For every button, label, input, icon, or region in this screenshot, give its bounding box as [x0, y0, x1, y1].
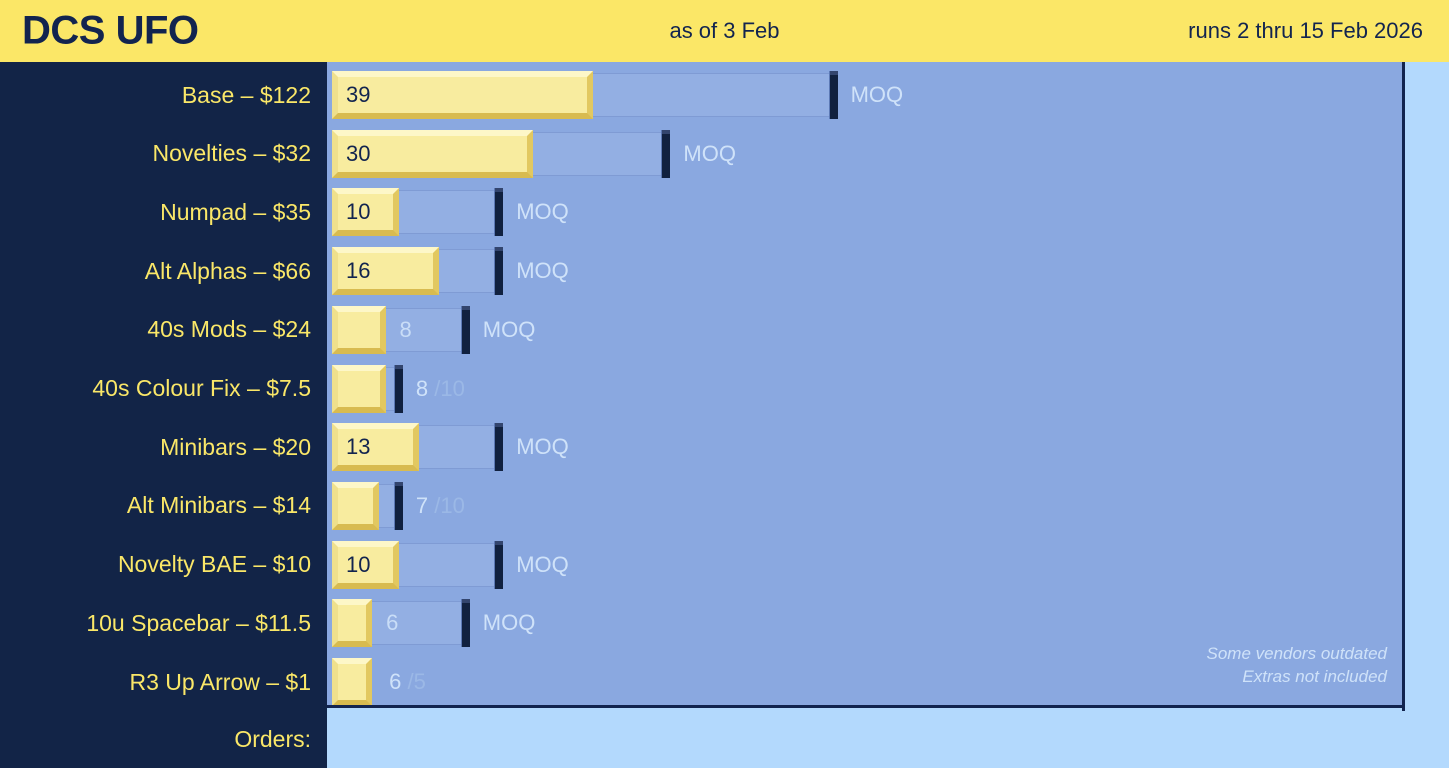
moq-fraction-label: 7 /10 — [416, 493, 465, 519]
orders-bar[interactable] — [332, 658, 372, 706]
moq-fraction-numerator: 7 — [416, 493, 434, 518]
orders-value: 10 — [346, 199, 370, 225]
bar-row: 8MOQ — [327, 301, 1405, 359]
bar-row: 30MOQ — [327, 125, 1405, 183]
category-label-alt-minibars: Alt Minibars – $14 — [0, 477, 311, 535]
page-header: DCS UFO as of 3 Feb runs 2 thru 15 Feb 2… — [0, 0, 1449, 62]
orders-bar[interactable] — [332, 365, 386, 413]
plot-right-padding — [1405, 62, 1449, 708]
orders-axis-label: Orders: — [0, 726, 311, 753]
chart-page: DCS UFO as of 3 Feb runs 2 thru 15 Feb 2… — [0, 0, 1449, 768]
orders-value: 16 — [346, 258, 370, 284]
moq-marker — [462, 599, 470, 647]
moq-marker — [495, 423, 503, 471]
moq-fraction-label: 8 /10 — [416, 376, 465, 402]
bar-row: 10MOQ — [327, 183, 1405, 241]
category-label-text: Minibars – $20 — [160, 434, 311, 461]
category-label-text: Base – $122 — [182, 82, 311, 109]
bar-row: 16MOQ — [327, 242, 1405, 300]
category-label-text: 10u Spacebar – $11.5 — [86, 610, 311, 637]
moq-marker — [495, 541, 503, 589]
category-label-text: Numpad – $35 — [160, 199, 311, 226]
orders-bar[interactable] — [332, 482, 379, 530]
moq-label: MOQ — [516, 258, 569, 284]
bar-row: 6 /5 — [327, 653, 1405, 708]
moq-label: MOQ — [483, 610, 536, 636]
category-label-novelties: Novelties – $32 — [0, 125, 311, 183]
run-dates: runs 2 thru 15 Feb 2026 — [1188, 18, 1423, 44]
category-label-text: Novelty BAE – $10 — [118, 551, 311, 578]
moq-fraction-denominator: /5 — [407, 669, 425, 694]
moq-marker — [662, 130, 670, 178]
orders-bar[interactable]: 39 — [332, 71, 593, 119]
moq-label: MOQ — [516, 434, 569, 460]
orders-bar[interactable] — [332, 599, 372, 647]
category-label-text: 40s Colour Fix – $7.5 — [92, 375, 311, 402]
moq-marker — [830, 71, 838, 119]
moq-marker — [462, 306, 470, 354]
orders-bar[interactable]: 10 — [332, 541, 399, 589]
orders-bar[interactable] — [332, 306, 386, 354]
category-label-text: 40s Mods – $24 — [147, 316, 311, 343]
moq-label: MOQ — [516, 552, 569, 578]
category-label-base: Base – $122 — [0, 66, 311, 124]
moq-marker — [495, 188, 503, 236]
bar-row: 7 /10 — [327, 477, 1405, 535]
orders-bar[interactable]: 16 — [332, 247, 439, 295]
bar-row: 39MOQ — [327, 66, 1405, 124]
moq-marker — [395, 482, 403, 530]
category-label-text: Alt Minibars – $14 — [127, 492, 311, 519]
orders-value: 10 — [346, 552, 370, 578]
category-label-text: Novelties – $32 — [152, 140, 311, 167]
x-axis — [327, 711, 1449, 768]
category-label-10u-spacebar: 10u Spacebar – $11.5 — [0, 594, 311, 652]
orders-bar[interactable]: 13 — [332, 423, 419, 471]
bar-row: 13MOQ — [327, 418, 1405, 476]
moq-label: MOQ — [483, 317, 536, 343]
category-label-40s-colour-fix: 40s Colour Fix – $7.5 — [0, 360, 311, 418]
moq-fraction-denominator: /10 — [434, 376, 465, 401]
moq-fraction-numerator: 6 — [389, 669, 407, 694]
orders-bar[interactable]: 30 — [332, 130, 533, 178]
category-label-r3-up-arrow: R3 Up Arrow – $1 — [0, 653, 311, 711]
category-label-40s-mods: 40s Mods – $24 — [0, 301, 311, 359]
category-label-text: R3 Up Arrow – $1 — [129, 669, 311, 696]
orders-value: 13 — [346, 434, 370, 460]
category-label-novelty-bae: Novelty BAE – $10 — [0, 536, 311, 594]
category-label-alt-alphas: Alt Alphas – $66 — [0, 242, 311, 300]
bar-row: 10MOQ — [327, 536, 1405, 594]
moq-label: MOQ — [851, 82, 904, 108]
moq-label: MOQ — [683, 141, 736, 167]
category-label-minibars: Minibars – $20 — [0, 418, 311, 476]
orders-value: 8 — [400, 317, 412, 343]
moq-marker — [495, 247, 503, 295]
moq-marker — [395, 365, 403, 413]
bar-row: 8 /10 — [327, 360, 1405, 418]
orders-bar[interactable]: 10 — [332, 188, 399, 236]
category-label-text: Alt Alphas – $66 — [145, 258, 311, 285]
moq-fraction-numerator: 8 — [416, 376, 434, 401]
category-label-numpad: Numpad – $35 — [0, 183, 311, 241]
orders-value: 39 — [346, 82, 370, 108]
bar-chart-plot: Some vendors outdated Extras not include… — [327, 62, 1405, 708]
orders-value: 30 — [346, 141, 370, 167]
moq-fraction-label: 6 /5 — [389, 669, 426, 695]
category-sidebar: Base – $122Novelties – $32Numpad – $35Al… — [0, 62, 327, 768]
moq-label: MOQ — [516, 199, 569, 225]
bar-row: 6MOQ — [327, 594, 1405, 652]
moq-fraction-denominator: /10 — [434, 493, 465, 518]
orders-value: 6 — [386, 610, 398, 636]
